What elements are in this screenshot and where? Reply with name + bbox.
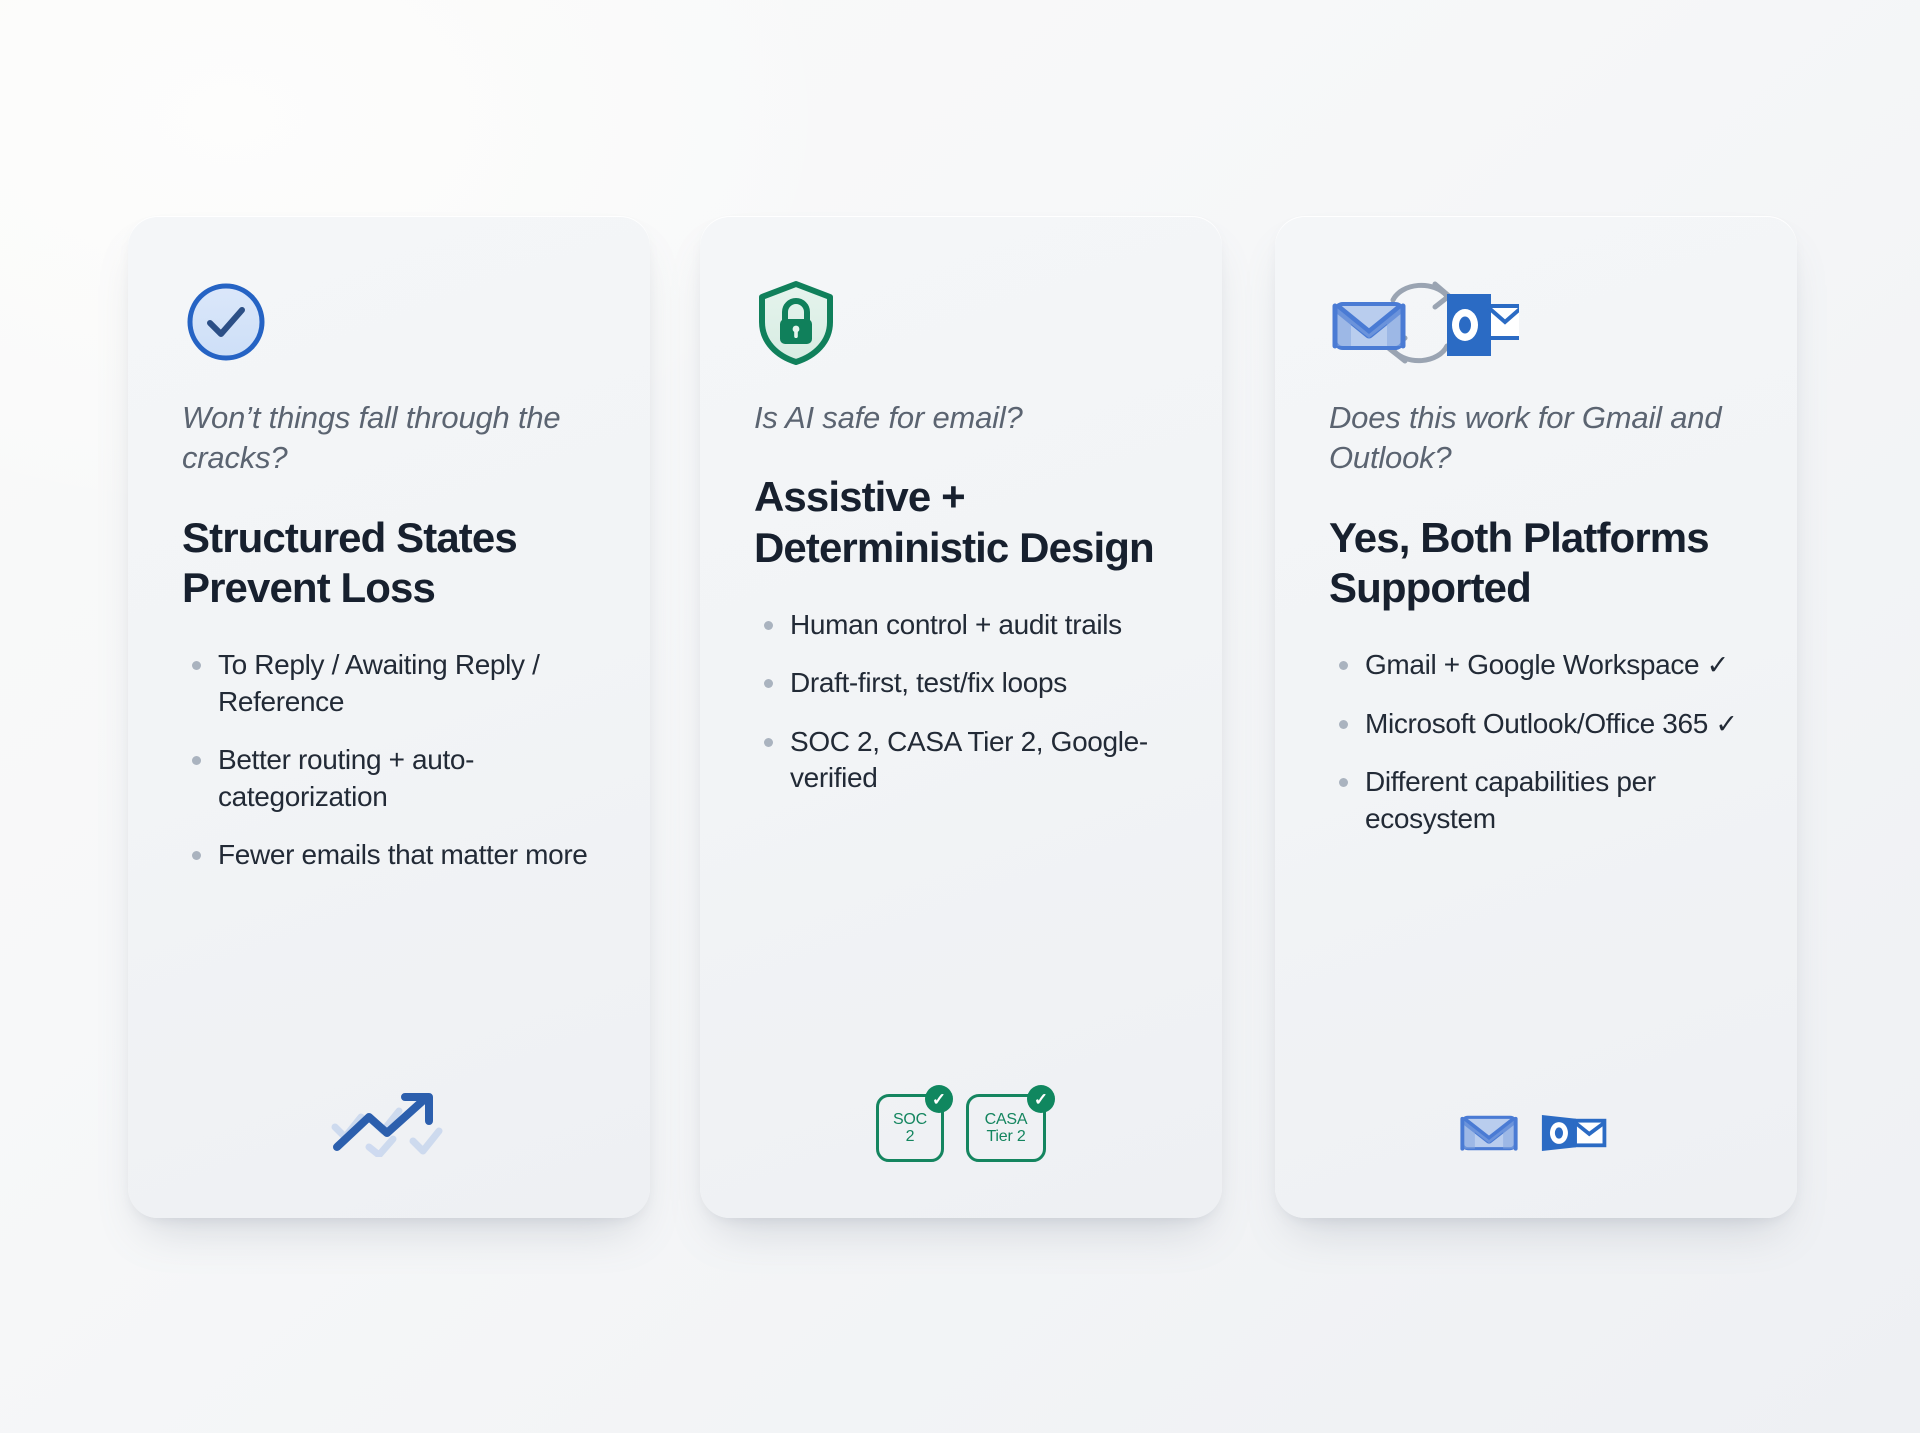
list-item: To Reply / Awaiting Reply / Reference	[182, 647, 596, 720]
badge-line: Tier 2	[986, 1128, 1025, 1145]
bullet-text: Different capabilities per ecosystem	[1365, 766, 1656, 833]
card-headline: Assistive + Deterministic Design	[754, 472, 1154, 573]
badge-line: CASA	[985, 1111, 1028, 1128]
list-item: Human control + audit trails	[754, 607, 1168, 643]
list-item: Different capabilities per ecosystem	[1329, 764, 1743, 837]
bullet-text: Microsoft Outlook/Office 365	[1365, 708, 1708, 739]
bullet-check-icon: ✓	[1707, 650, 1729, 680]
soc-2-badge: SOC 2 ✓	[876, 1094, 944, 1162]
bullet-text: Better routing + auto-categorization	[218, 744, 474, 811]
card-bullet-list: Human control + audit trails Draft-first…	[754, 607, 1168, 797]
card-structured-states[interactable]: Won’t things fall through the cracks? St…	[128, 216, 650, 1218]
bullet-text: Fewer emails that matter more	[218, 839, 588, 870]
verified-check-icon: ✓	[925, 1085, 953, 1113]
card-footer: SOC 2 ✓ CASA Tier 2 ✓	[700, 1094, 1222, 1162]
bullet-check-icon: ✓	[1715, 709, 1737, 739]
list-item: Microsoft Outlook/Office 365 ✓	[1329, 706, 1743, 742]
trending-up-chart-icon	[329, 1085, 449, 1162]
card-footer	[128, 1085, 650, 1162]
verified-check-icon: ✓	[1027, 1085, 1055, 1113]
card-question: Does this work for Gmail and Outlook?	[1329, 398, 1743, 479]
card-both-platforms[interactable]: Does this work for Gmail and Outlook? Ye…	[1275, 216, 1797, 1218]
gmail-outlook-sync-icon	[1329, 278, 1743, 366]
list-item: Draft-first, test/fix loops	[754, 665, 1168, 701]
badge-line: SOC	[893, 1111, 927, 1128]
gmail-logo-icon	[1460, 1109, 1518, 1162]
card-headline: Yes, Both Platforms Supported	[1329, 513, 1729, 614]
list-item: Gmail + Google Workspace ✓	[1329, 647, 1743, 683]
list-item: SOC 2, CASA Tier 2, Google-verified	[754, 724, 1168, 797]
cards-board: Won’t things fall through the cracks? St…	[0, 0, 1920, 1433]
badge-line: 2	[906, 1128, 915, 1145]
card-question: Is AI safe for email?	[754, 398, 1168, 438]
card-bullet-list: To Reply / Awaiting Reply / Reference Be…	[182, 647, 596, 873]
card-bullet-list: Gmail + Google Workspace ✓ Microsoft Out…	[1329, 647, 1743, 837]
outlook-logo-icon	[1540, 1109, 1612, 1162]
bullet-text: Draft-first, test/fix loops	[790, 667, 1067, 698]
check-circle-icon	[182, 278, 596, 366]
card-question: Won’t things fall through the cracks?	[182, 398, 596, 479]
casa-tier-2-badge: CASA Tier 2 ✓	[966, 1094, 1046, 1162]
card-assistive-deterministic[interactable]: Is AI safe for email? Assistive + Determ…	[700, 216, 1222, 1218]
list-item: Better routing + auto-categorization	[182, 742, 596, 815]
bullet-text: To Reply / Awaiting Reply / Reference	[218, 649, 540, 716]
bullet-text: SOC 2, CASA Tier 2, Google-verified	[790, 726, 1148, 793]
shield-lock-icon	[754, 278, 1168, 366]
bullet-text: Human control + audit trails	[790, 609, 1122, 640]
list-item: Fewer emails that matter more	[182, 837, 596, 873]
card-footer	[1275, 1109, 1797, 1162]
card-headline: Structured States Prevent Loss	[182, 513, 582, 614]
bullet-text: Gmail + Google Workspace	[1365, 649, 1699, 680]
